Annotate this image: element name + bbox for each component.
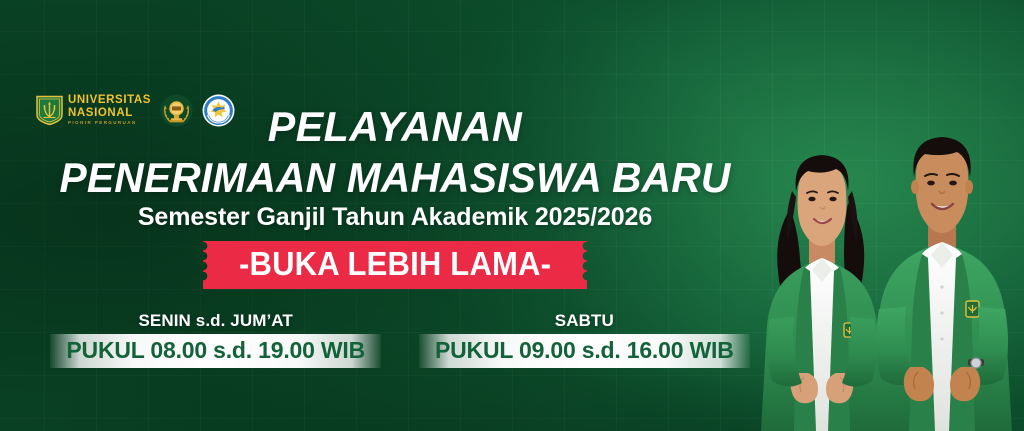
students-illustration: [752, 91, 1024, 431]
students-photo: [752, 91, 1024, 431]
subtitle: Semester Ganjil Tahun Akademik 2025/2026: [0, 205, 790, 230]
schedule-time-box: PUKUL 09.00 s.d. 16.00 WIB: [419, 334, 750, 368]
schedule-time-label: PUKUL 09.00 s.d. 16.00 WIB: [435, 338, 734, 363]
schedule-time-box: PUKUL 08.00 s.d. 19.00 WIB: [50, 334, 381, 368]
ribbon-text: -BUKA LEBIH LAMA-: [239, 246, 551, 282]
student-male: [872, 137, 1012, 431]
schedule-time-label: PUKUL 08.00 s.d. 19.00 WIB: [66, 338, 365, 363]
pmb-banner: UNIVERSITAS NASIONAL PIONIR PERGURUAN: [0, 0, 1024, 431]
schedule-day-label: SENIN s.d. JUM’AT: [138, 312, 292, 329]
schedule-item-saturday: SABTU PUKUL 09.00 s.d. 16.00 WIB: [419, 312, 750, 368]
schedule-day-label: SABTU: [555, 312, 614, 329]
headline-line1: PELAYANAN: [8, 106, 782, 148]
schedule-item-weekday: SENIN s.d. JUM’AT PUKUL 08.00 s.d. 19.00…: [50, 312, 381, 368]
schedule-group: SENIN s.d. JUM’AT PUKUL 08.00 s.d. 19.00…: [0, 312, 800, 368]
headline-line2: PENERIMAAN MAHASISWA BARU: [12, 157, 778, 199]
highlight-ribbon: -BUKA LEBIH LAMA-: [203, 241, 587, 289]
ribbon-wrap: -BUKA LEBIH LAMA-: [0, 241, 790, 289]
student-female: [761, 155, 883, 431]
